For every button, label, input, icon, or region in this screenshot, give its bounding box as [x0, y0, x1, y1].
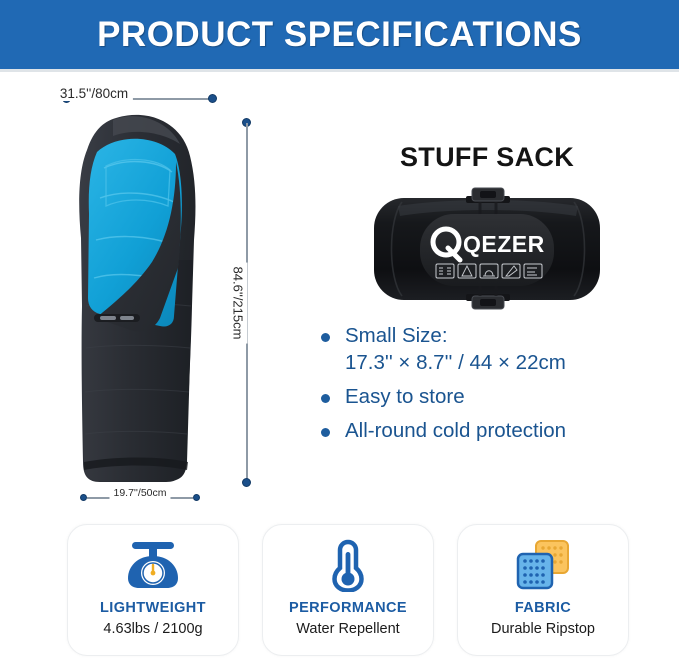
kitchen-scale-icon [124, 537, 182, 593]
bullet-dot-icon [321, 428, 330, 437]
spec-card-title: PERFORMANCE [289, 600, 407, 616]
fabric-swatch-icon [514, 537, 572, 593]
product-specifications-page: PRODUCT SPECIFICATIONS [0, 0, 679, 665]
dimension-width-bottom-label: 19.7''/50cm [109, 487, 170, 499]
list-item-label: All-round cold protection [345, 419, 566, 442]
list-item: Easy to store [318, 383, 673, 410]
stuff-sack-heading: STUFF SACK [400, 142, 574, 173]
header-divider [0, 69, 679, 72]
feature-bullet-list: Small Size: 17.3'' × 8.7'' / 44 × 22cm E… [318, 322, 673, 451]
page-title: PRODUCT SPECIFICATIONS [97, 15, 582, 55]
spec-card-fabric: FABRIC Durable Ripstop [457, 524, 629, 656]
list-item-label: Easy to store [345, 385, 465, 408]
spec-card-title: FABRIC [515, 600, 571, 616]
spec-card-lightweight: LIGHTWEIGHT 4.63lbs / 2100g [67, 524, 239, 656]
dimension-endpoint-dot [208, 94, 217, 103]
zipper-detail [94, 314, 140, 322]
compression-strap-top [466, 188, 510, 203]
thermometer-icon [326, 537, 370, 593]
compression-strap-bottom [466, 294, 510, 309]
spec-card-title: LIGHTWEIGHT [100, 600, 206, 616]
spec-card-value: 4.63lbs / 2100g [103, 621, 202, 637]
list-item: All-round cold protection [318, 417, 673, 444]
spec-card-value: Durable Ripstop [491, 621, 595, 637]
stuff-sack-image: QEZER [368, 186, 606, 312]
page-header-banner: PRODUCT SPECIFICATIONS [0, 0, 679, 69]
spec-card-row: LIGHTWEIGHT 4.63lbs / 2100g PERFORMANCE … [0, 524, 679, 659]
dimension-endpoint-dot [242, 478, 251, 487]
spec-card-performance: PERFORMANCE Water Repellent [262, 524, 434, 656]
bullet-dot-icon [321, 333, 330, 342]
brand-name-text: QEZER [463, 231, 545, 257]
spec-card-value: Water Repellent [296, 621, 399, 637]
dimension-width-top-label: 31.5''/80cm [55, 86, 133, 101]
list-item-label: Small Size: 17.3'' × 8.7'' / 44 × 22cm [345, 324, 566, 374]
bullet-dot-icon [321, 394, 330, 403]
dimension-endpoint-dot [193, 494, 200, 501]
sleeping-bag-graphic [56, 110, 236, 495]
dimension-endpoint-dot [80, 494, 87, 501]
list-item: Small Size: 17.3'' × 8.7'' / 44 × 22cm [318, 322, 673, 376]
dimension-length-label: 84.6''/215cm [229, 263, 248, 344]
